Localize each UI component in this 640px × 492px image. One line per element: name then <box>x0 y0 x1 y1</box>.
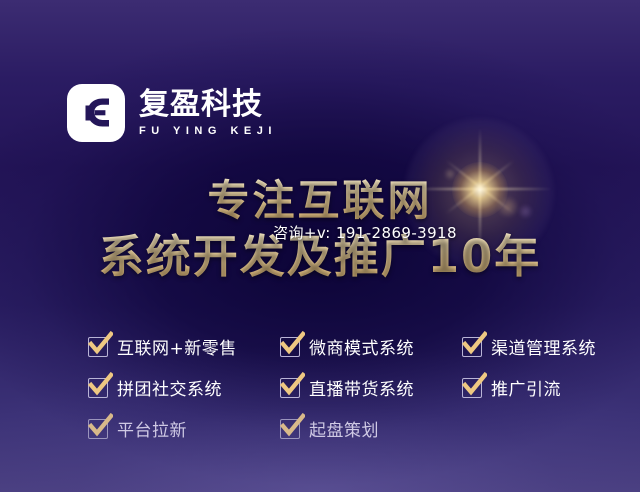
feature-label: 渠道管理系统 <box>491 334 596 359</box>
contact-wechat-text: 咨询+v: 191-2869-3918 <box>0 222 640 243</box>
brand-lockup: 复盈科技 FU YING KEJI <box>67 84 277 142</box>
feature-label: 微商模式系统 <box>309 334 414 359</box>
feature-label: 互联网+新零售 <box>117 334 237 359</box>
checkbox-checked-icon <box>280 419 300 439</box>
feature-row: 拼团社交系统 直播带货系统 推广引流 <box>88 367 608 408</box>
feature-item[interactable]: 拼团社交系统 <box>88 375 280 400</box>
checkbox-checked-icon <box>280 337 300 357</box>
feature-item[interactable]: 推广引流 <box>462 375 561 400</box>
feature-item[interactable]: 直播带货系统 <box>280 375 462 400</box>
feature-label: 起盘策划 <box>309 416 379 441</box>
feature-label: 直播带货系统 <box>309 375 414 400</box>
feature-item[interactable]: 起盘策划 <box>280 416 462 441</box>
checkbox-checked-icon <box>88 419 108 439</box>
feature-row: 平台拉新 起盘策划 <box>88 408 608 449</box>
headline-line-1: 专注互联网 <box>0 178 640 224</box>
brand-text-block: 复盈科技 FU YING KEJI <box>139 89 277 136</box>
feature-item[interactable]: 平台拉新 <box>88 416 280 441</box>
checkbox-checked-icon <box>280 378 300 398</box>
feature-item[interactable]: 渠道管理系统 <box>462 334 596 359</box>
brand-name-cn: 复盈科技 <box>139 89 277 121</box>
brand-name-en: FU YING KEJI <box>139 125 277 137</box>
feature-row: 互联网+新零售 微商模式系统 渠道管理系统 <box>88 326 608 367</box>
feature-checklist: 互联网+新零售 微商模式系统 渠道管理系统 <box>88 326 608 449</box>
feature-label: 平台拉新 <box>117 416 187 441</box>
feature-label: 推广引流 <box>491 375 561 400</box>
checkbox-checked-icon <box>88 337 108 357</box>
promo-poster: 复盈科技 FU YING KEJI 专注互联网 系统开发及推广10年 咨询+v:… <box>0 0 640 492</box>
checkbox-checked-icon <box>462 337 482 357</box>
feature-item[interactable]: 互联网+新零售 <box>88 334 280 359</box>
checkbox-checked-icon <box>462 378 482 398</box>
feature-item[interactable]: 微商模式系统 <box>280 334 462 359</box>
checkbox-checked-icon <box>88 378 108 398</box>
fuying-e-mark-logo-icon <box>67 84 125 142</box>
feature-label: 拼团社交系统 <box>117 375 222 400</box>
